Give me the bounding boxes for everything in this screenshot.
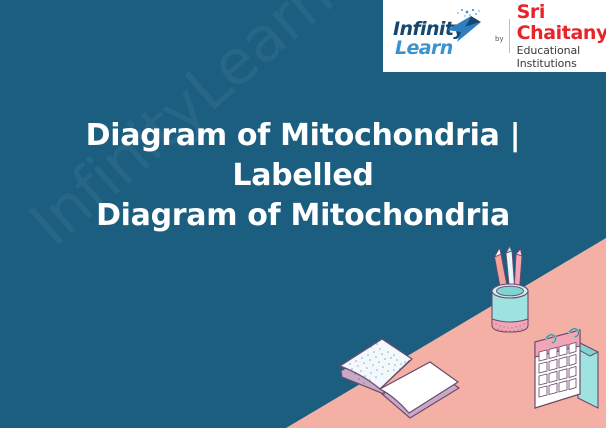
page-title-line-2: Diagram of Mitochondria [14, 196, 592, 236]
page-title-line-1: Diagram of Mitochondria | Labelled [14, 116, 592, 196]
page-title: Diagram of Mitochondria | Labelled Diagr… [14, 116, 592, 236]
logo-connector-by: by [495, 29, 504, 43]
open-book-illustration [336, 330, 464, 428]
infinity-learn-logo: Infinity Learn [393, 12, 485, 60]
open-book-icon [336, 330, 464, 426]
calendar-illustration [528, 320, 606, 424]
sri-chaitanya-logo: Sri Chaitanya Educational Institutions [517, 2, 606, 70]
calendar-icon [528, 320, 606, 420]
poster-canvas: InfinityLearn.com [0, 0, 606, 428]
sri-chaitanya-name: Sri Chaitanya [517, 2, 606, 44]
bird-arrow-icon [441, 8, 485, 52]
sri-chaitanya-subtitle: Educational Institutions [517, 44, 606, 70]
logo-divider [509, 19, 510, 53]
brand-logo-card: Infinity Learn by Sri Chaitanya E [383, 0, 606, 72]
